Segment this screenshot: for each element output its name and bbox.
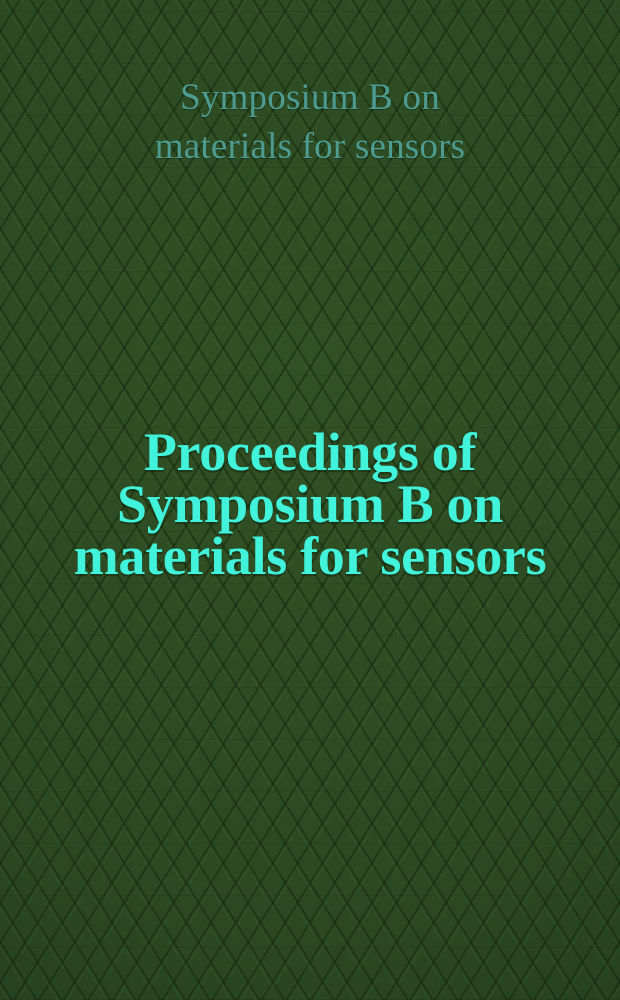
book-cover: Symposium B on materials for sensors Pro… xyxy=(0,0,620,1000)
cover-title: Proceedings of Symposium B on materials … xyxy=(0,426,620,582)
cover-header-text: Symposium B on materials for sensors xyxy=(0,73,620,171)
